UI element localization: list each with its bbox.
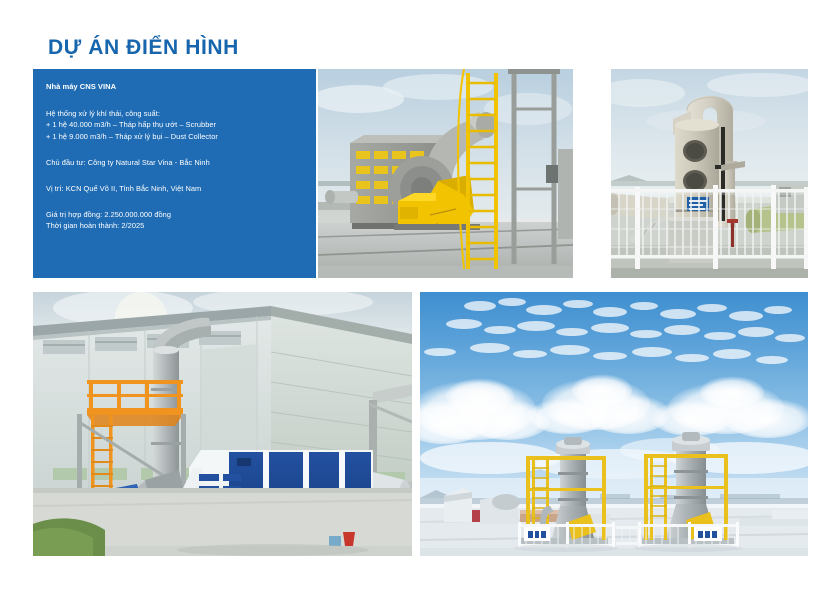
completion-time-label: Thời gian hoàn thành: 2/2025 (46, 220, 300, 231)
capacity-heading-label: Hệ thống xử lý khí thải, công suất: (46, 108, 300, 119)
industrial-fan-and-duct-graphic (318, 69, 573, 278)
project-info-panel: Nhà máy CNS VINA Hệ thống xử lý khí thải… (33, 69, 316, 278)
capacity-line-1-label: + 1 hệ 40.000 m3/h – Tháp hấp thụ ướt – … (46, 119, 300, 130)
owner-label: Chủ đầu tư: Công ty Natural Star Vina - … (46, 157, 300, 168)
location-label: Vị trí: KCN Quế Võ II, Tỉnh Bắc Ninh, Vi… (46, 183, 300, 194)
wet-scrubber-tower-graphic (611, 69, 808, 278)
rooftop-scrubber-towers-photo (420, 292, 808, 556)
dust-collector-unit-photo (33, 292, 412, 556)
slide-canvas: DỰ ÁN ĐIỂN HÌNH Nhà máy CNS VINA Hệ thốn… (0, 0, 835, 594)
contract-block: Giá trị hợp đồng: 2.250.000.000 đồng Thờ… (46, 209, 300, 232)
wet-scrubber-tower-photo (611, 69, 808, 278)
capacity-line-2-label: + 1 hệ 9.000 m3/h – Tháp xử lý bụi – Dus… (46, 131, 300, 142)
capacity-block: Hệ thống xử lý khí thải, công suất: + 1 … (46, 108, 300, 142)
industrial-fan-and-duct-photo (318, 69, 573, 278)
location-block: Vị trí: KCN Quế Võ II, Tỉnh Bắc Ninh, Vi… (46, 183, 300, 194)
owner-block: Chủ đầu tư: Công ty Natural Star Vina - … (46, 157, 300, 168)
dust-collector-unit-graphic (33, 292, 412, 556)
rooftop-scrubber-towers-graphic (420, 292, 808, 556)
contract-value-label: Giá trị hợp đồng: 2.250.000.000 đồng (46, 209, 300, 220)
factory-name-label: Nhà máy CNS VINA (46, 82, 300, 91)
page-title: DỰ ÁN ĐIỂN HÌNH (48, 36, 239, 60)
